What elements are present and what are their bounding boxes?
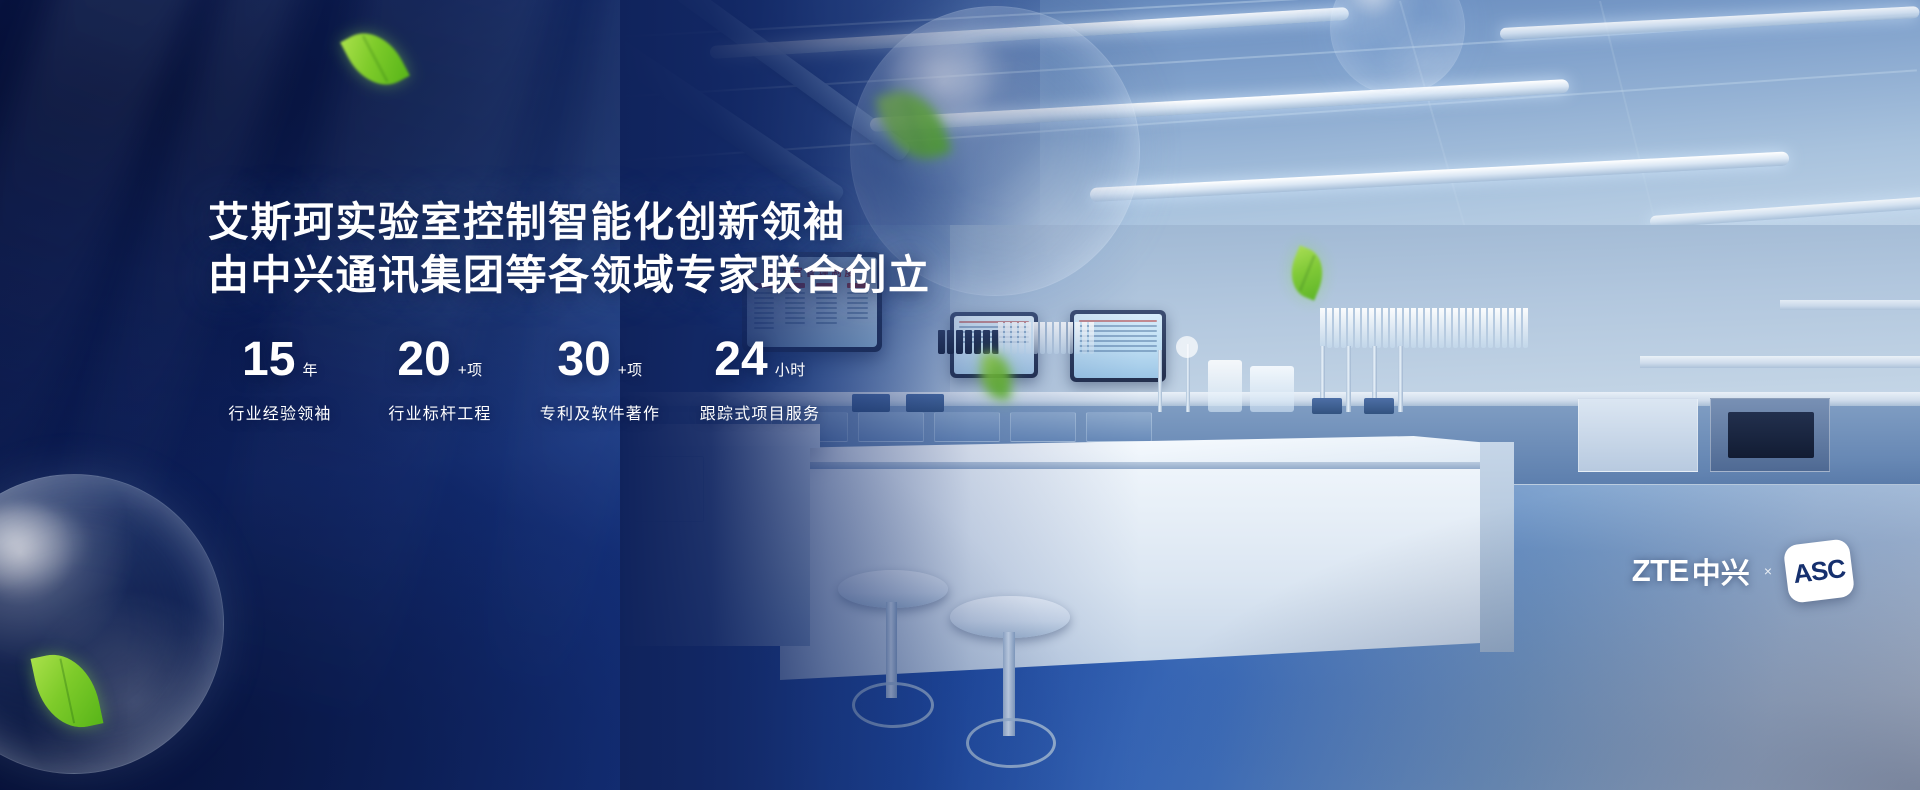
- stat-number: 15: [242, 336, 295, 384]
- asc-logo: ASC: [1783, 538, 1856, 604]
- headline-line-2: 由中兴通讯集团等各领域专家联合创立: [208, 249, 931, 302]
- zte-logo-chinese: 中兴: [1692, 550, 1750, 592]
- stat-label: 专利及软件著作: [520, 400, 680, 424]
- headline-block: 艾斯珂实验室控制智能化创新领袖 由中兴通讯集团等各领域专家联合创立: [208, 196, 931, 303]
- hero-banner: 实验室管理制度: [0, 0, 1920, 790]
- zte-logo: ZTE 中兴: [1632, 550, 1750, 592]
- stat-unit: 年: [302, 359, 318, 380]
- stat-unit: 小时: [775, 359, 806, 380]
- headline-line-1: 艾斯珂实验室控制智能化创新领袖: [208, 196, 931, 249]
- logo-separator: ×: [1764, 563, 1772, 579]
- stat-unit: +项: [458, 359, 483, 380]
- stat-label: 行业标杆工程: [360, 400, 520, 424]
- stat-number: 30: [557, 336, 610, 384]
- stat-number: 24: [714, 336, 767, 384]
- stat-number: 20: [397, 336, 450, 384]
- stat-item-0: 15 年 行业经验领袖: [200, 336, 360, 424]
- stat-item-3: 24 小时 跟踪式项目服务: [680, 336, 840, 424]
- stat-item-2: 30 +项 专利及软件著作: [520, 336, 680, 424]
- stat-unit: +项: [618, 359, 643, 380]
- asc-logo-text: ASC: [1791, 552, 1846, 589]
- logo-lockup: ZTE 中兴 × ASC: [1632, 542, 1852, 600]
- stats-row: 15 年 行业经验领袖 20 +项 行业标杆工程 30 +项 专利及软件著作 2…: [200, 336, 840, 424]
- stat-label: 行业经验领袖: [200, 400, 360, 424]
- stat-label: 跟踪式项目服务: [680, 400, 840, 424]
- stat-item-1: 20 +项 行业标杆工程: [360, 336, 520, 424]
- zte-logo-latin: ZTE: [1632, 553, 1689, 589]
